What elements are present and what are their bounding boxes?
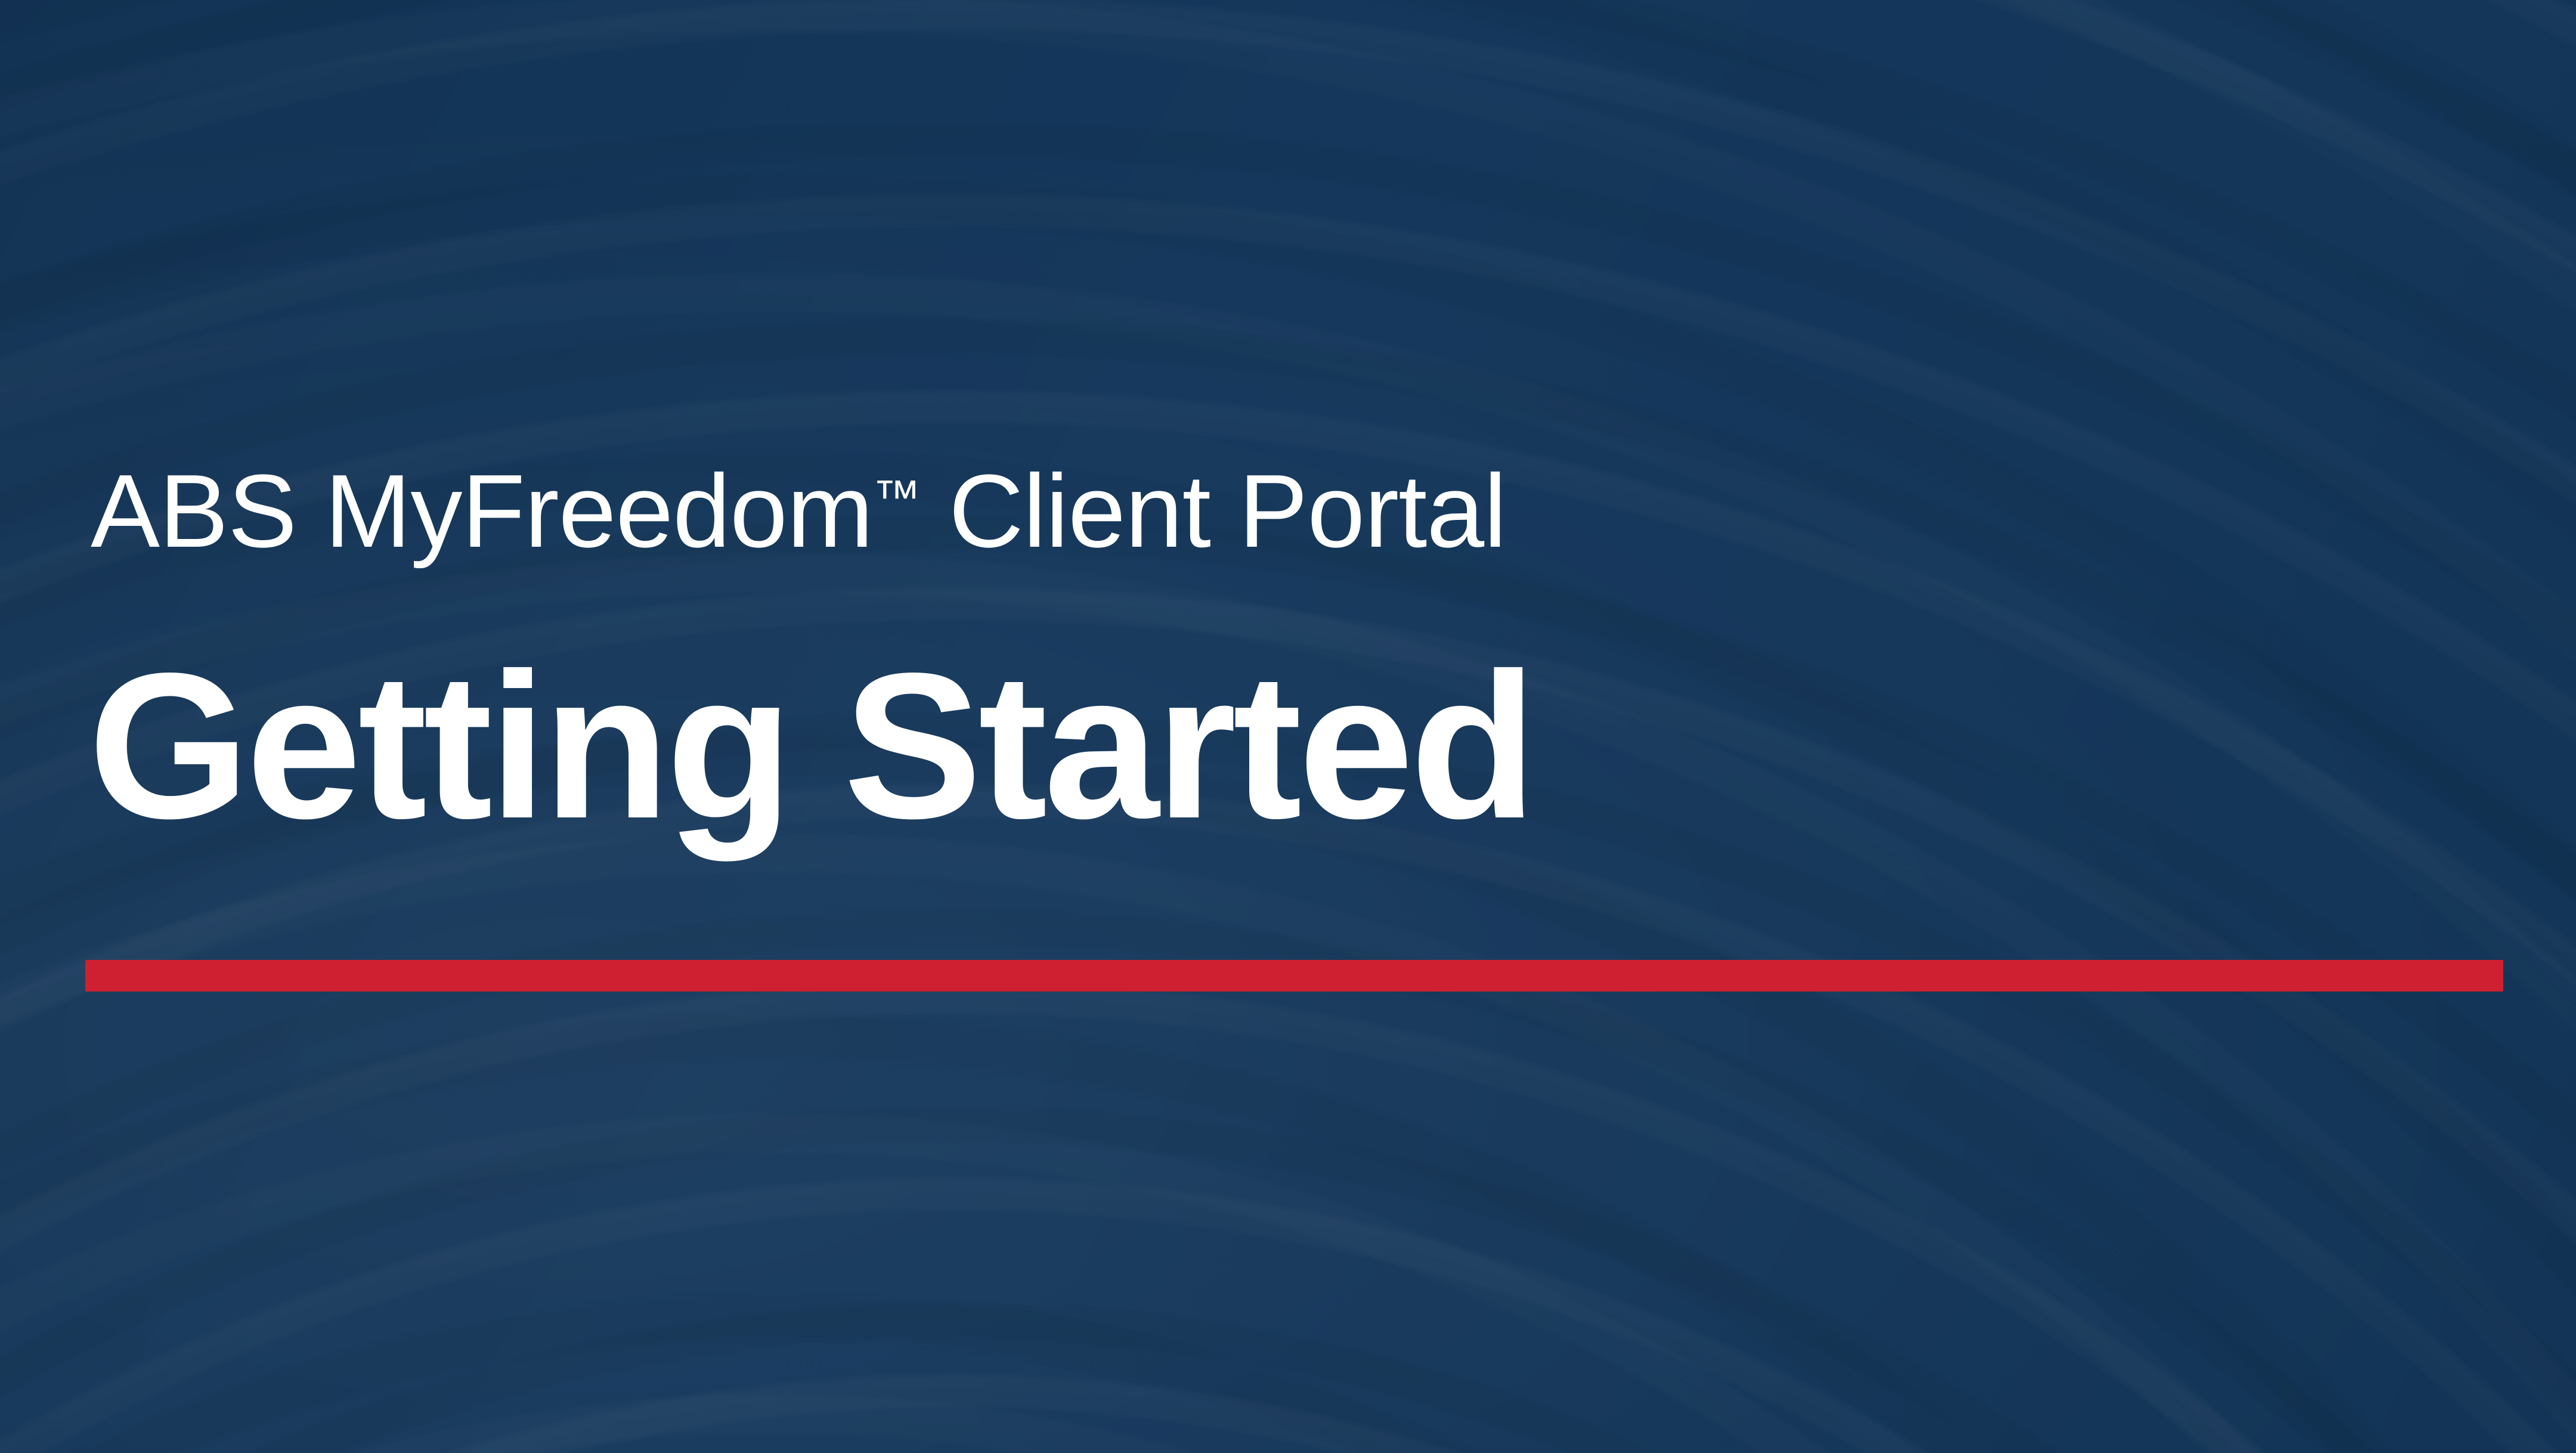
red-accent-rule — [85, 960, 2503, 992]
product-name-eyebrow: ABS MyFreedom™ Client Portal — [91, 459, 1506, 563]
product-name-suffix: Client Portal — [921, 453, 1506, 569]
page-title: Getting Started — [88, 642, 1533, 850]
trademark-symbol: ™ — [873, 470, 921, 523]
title-slide: ABS MyFreedom™ Client Portal Getting Sta… — [0, 0, 2576, 1453]
product-name-prefix: ABS MyFreedom — [91, 453, 873, 569]
slide-content: ABS MyFreedom™ Client Portal Getting Sta… — [0, 0, 2576, 1453]
